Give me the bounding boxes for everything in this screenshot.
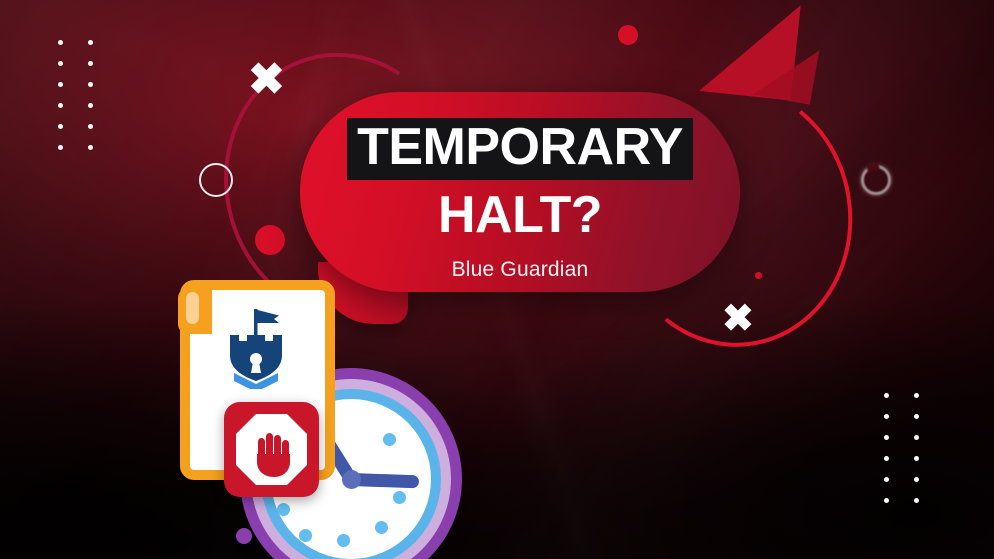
red-dot-tiny	[755, 272, 762, 279]
clock-tick	[277, 503, 290, 516]
dot-grid-bottom-right	[884, 393, 919, 503]
clock-tick	[299, 529, 312, 542]
headline-line-1-text: TEMPORARY	[347, 118, 693, 180]
document-curl-icon	[178, 288, 212, 334]
promo-graphic-canvas: ✖ ✖ TEMPORARY HALT? Blue Guardian	[0, 0, 994, 559]
red-dot-small	[618, 25, 638, 45]
x-mark-icon-bottom-center: ✖	[722, 300, 754, 338]
speech-bubble: TEMPORARY HALT? Blue Guardian	[300, 92, 740, 292]
illustration-cluster	[178, 280, 468, 559]
headline-line-1: TEMPORARY	[300, 118, 740, 180]
circle-outline-icon	[199, 163, 233, 197]
clock-tick	[337, 534, 350, 547]
ring-smudge-icon	[861, 165, 891, 195]
fortress-shield-icon	[224, 307, 288, 389]
dot-grid-top-left	[58, 40, 93, 150]
stop-hand-icon	[224, 402, 319, 497]
headline-line-2: HALT?	[300, 189, 740, 241]
subtitle-brand: Blue Guardian	[300, 258, 740, 282]
red-dot-large	[255, 225, 285, 255]
clock-tick	[393, 491, 406, 504]
clock-tick	[375, 521, 388, 534]
clock-center-pivot	[342, 470, 361, 489]
x-mark-icon-top-left: ✖	[248, 58, 285, 102]
clock-tick	[383, 433, 396, 446]
clock-orbit-dot	[236, 528, 252, 544]
